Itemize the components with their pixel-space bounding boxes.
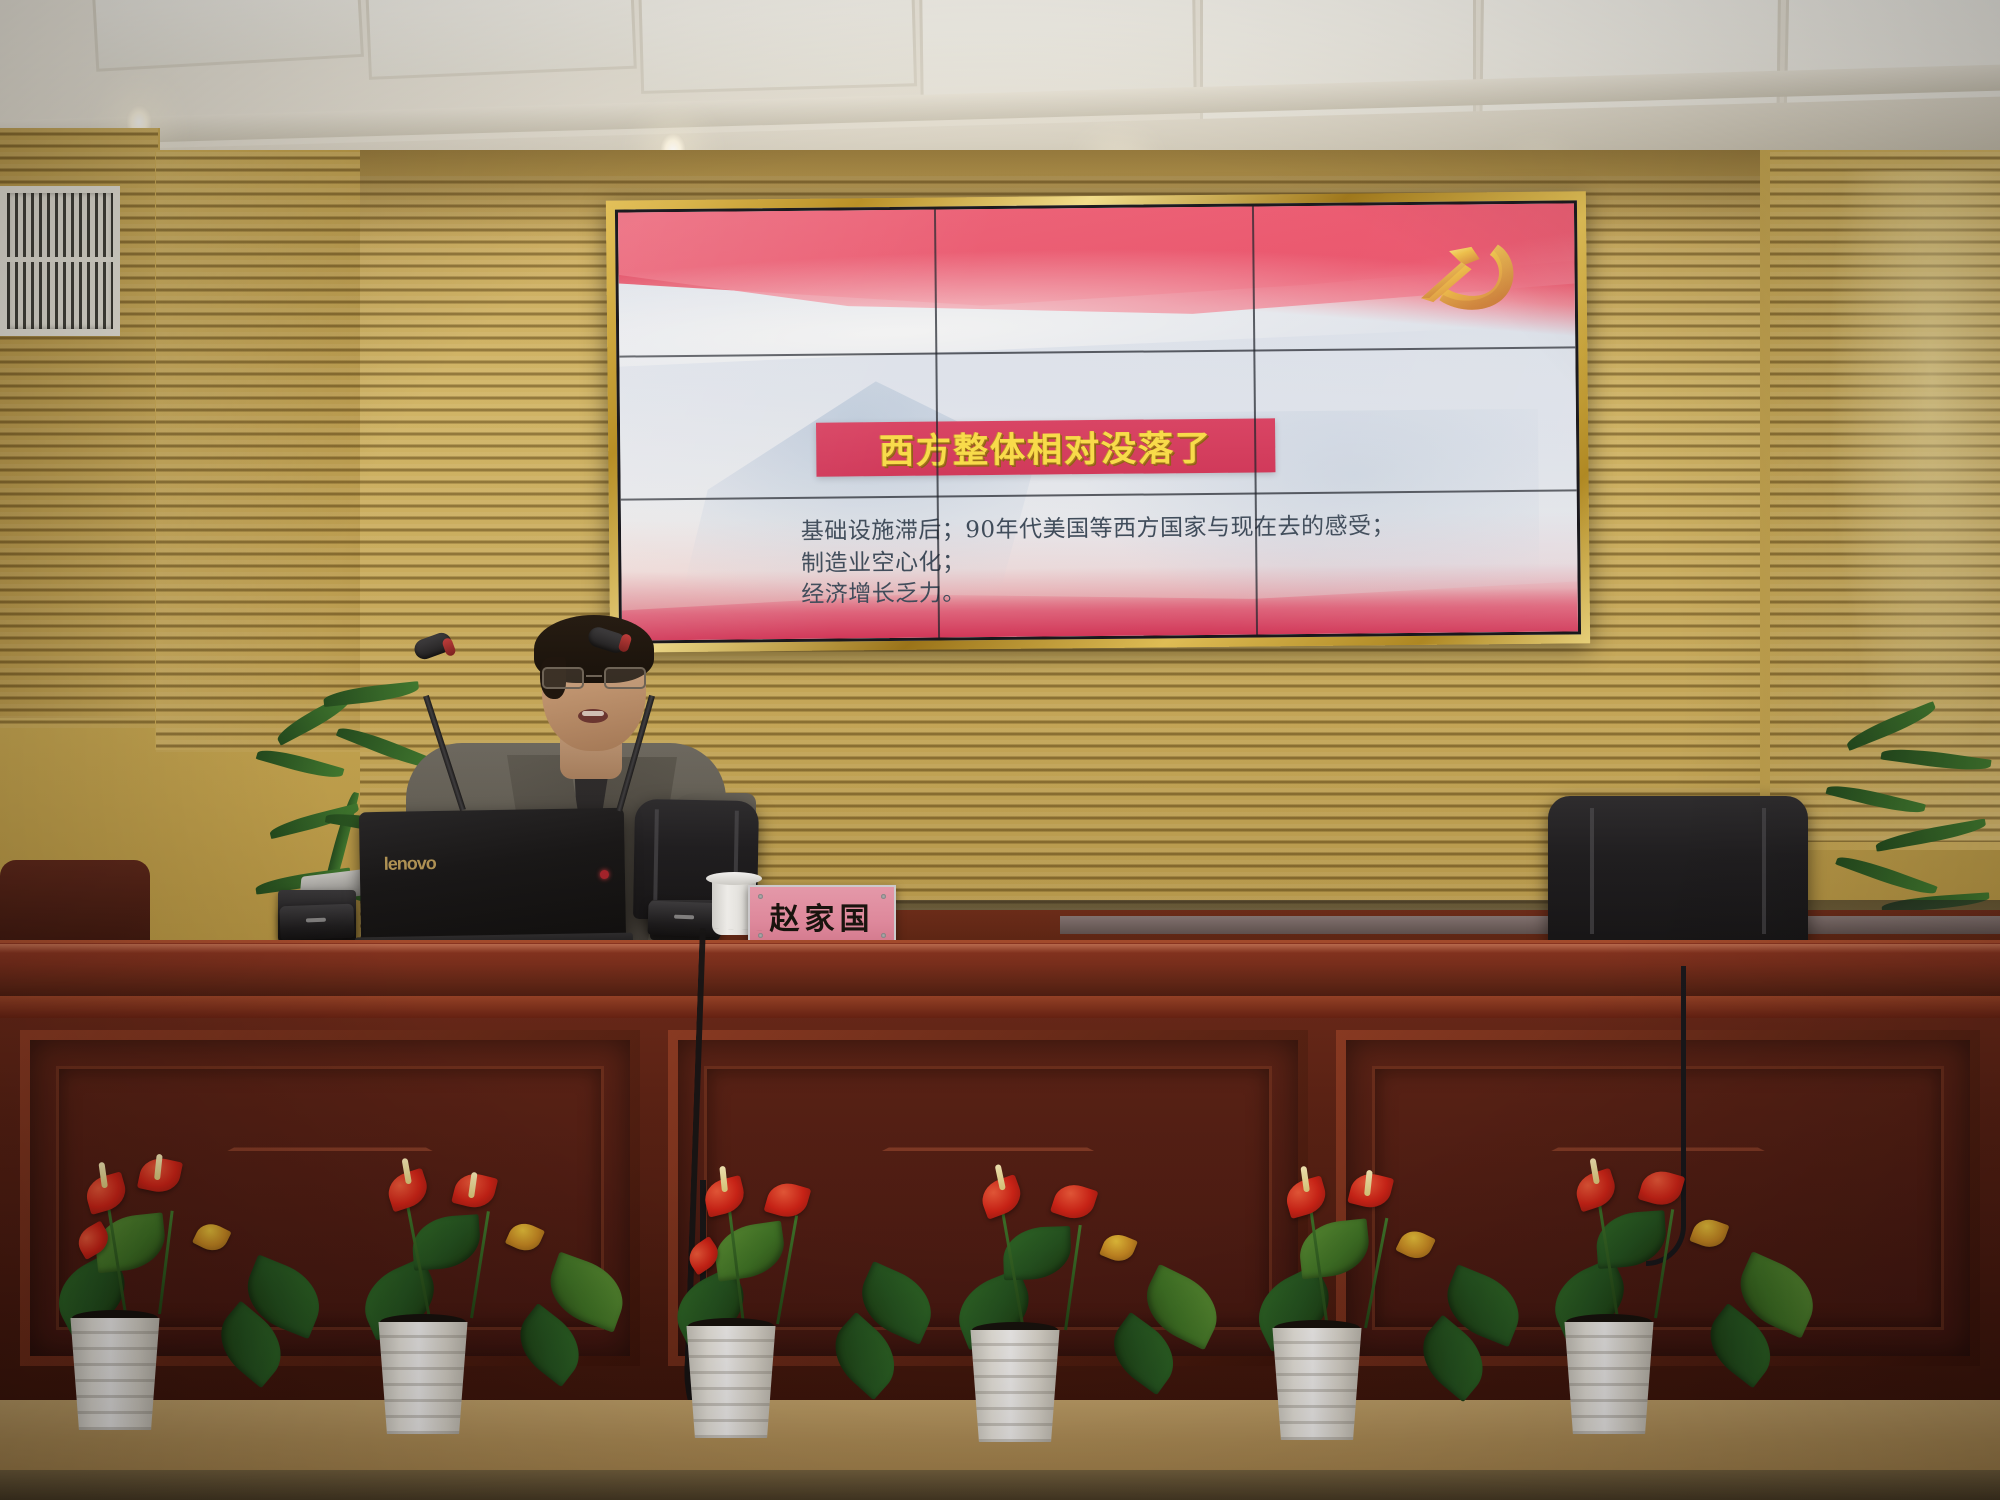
palm-frond — [323, 681, 420, 707]
slide-body-text: 基础设施滞后；90年代美国等西方国家与现在去的感受； 制造业空心化； 经济增长乏… — [801, 510, 1528, 612]
microphone-right[interactable] — [576, 636, 656, 811]
microphone-left[interactable] — [420, 640, 500, 810]
podium-rail-molding — [0, 996, 2000, 1018]
pot-ribs — [1264, 1328, 1370, 1440]
pot-ribs — [1556, 1322, 1662, 1434]
flower-pot — [62, 1318, 168, 1430]
podium-top-sheen — [0, 944, 2000, 953]
pot-ribs — [678, 1326, 784, 1438]
ceiling — [0, 0, 2000, 175]
flower-pot — [370, 1322, 476, 1434]
flower-pot-group — [1264, 1122, 1464, 1462]
plant-leaf — [711, 1221, 788, 1282]
flower-pot — [678, 1326, 784, 1438]
anthurium-bloom-fading — [1689, 1215, 1729, 1252]
nameplate-screw — [881, 894, 886, 899]
ceiling-light-panel — [362, 0, 637, 80]
anthurium-bloom — [1050, 1179, 1099, 1224]
anthurium-bloom-fading — [505, 1218, 545, 1256]
nameplate-screw — [758, 894, 763, 899]
anthurium-bloom-fading — [1099, 1230, 1138, 1266]
ceiling-light-panel — [636, 0, 917, 94]
plant-leaf — [1297, 1218, 1372, 1279]
laptop[interactable]: lenovo — [359, 808, 626, 948]
paper-cup-rim — [706, 872, 762, 885]
laptop-brand-logo: lenovo — [384, 853, 436, 875]
left-wall-return-slats — [156, 152, 360, 752]
palm-frond — [1881, 744, 1992, 774]
palm-frond — [1825, 780, 1925, 818]
slide-title-text: 西方整体相对没落了 — [879, 420, 1212, 474]
flower-pot-group — [62, 1112, 262, 1452]
plant-leaf — [411, 1214, 482, 1271]
microphone-stem — [423, 695, 466, 811]
anthurium-bloom — [1638, 1166, 1686, 1210]
microphone-ring — [441, 637, 457, 657]
pot-ribs — [962, 1330, 1068, 1442]
microphone-base-left — [279, 904, 354, 941]
palm-frond — [1874, 818, 1987, 851]
chair-left-partial[interactable] — [0, 860, 150, 952]
video-wall-gold-frame: 西方整体相对没落了 基础设施滞后；90年代美国等西方国家与现在去的感受； 制造业… — [606, 191, 1590, 652]
microphone-stem — [616, 695, 655, 812]
chair-executive-right[interactable] — [1548, 796, 1808, 946]
slide-title-band: 西方整体相对没落了 — [816, 418, 1275, 476]
hammer-and-sickle-emblem — [1404, 236, 1527, 321]
pot-ribs — [370, 1322, 476, 1434]
pot-ribs — [62, 1318, 168, 1430]
palm-frond — [1835, 851, 1938, 900]
nameplate-screw — [881, 933, 886, 938]
conference-room-scene: 西方整体相对没落了 基础设施滞后；90年代美国等西方国家与现在去的感受； 制造业… — [0, 0, 2000, 1500]
desk-runner-strip — [1060, 916, 2000, 934]
right-wall-light-glow — [1830, 170, 2000, 770]
flower-pot-group — [370, 1116, 570, 1456]
flower-pot — [962, 1330, 1068, 1442]
flower-pot-group — [962, 1124, 1162, 1464]
laptop-indicator-light — [600, 870, 609, 879]
presentation-slide: 西方整体相对没落了 基础设施滞后；90年代美国等西方国家与现在去的感受； 制造业… — [618, 203, 1578, 640]
anthurium-bloom — [764, 1178, 812, 1222]
flower-pot — [1556, 1322, 1662, 1434]
air-conditioning-vent — [0, 186, 120, 336]
video-wall-display[interactable]: 西方整体相对没落了 基础设施滞后；90年代美国等西方国家与现在去的感受； 制造业… — [615, 200, 1581, 643]
flower-pot — [1264, 1328, 1370, 1440]
ceiling-light-panel — [88, 0, 364, 72]
flower-pot-group — [678, 1120, 878, 1460]
anthurium-bloom-fading — [1395, 1226, 1436, 1264]
stage-floor-edge — [0, 1470, 2000, 1500]
palm-frond — [1844, 701, 1939, 751]
palm-frond — [256, 744, 345, 783]
flower-pot-group — [1556, 1116, 1756, 1456]
anthurium-bloom-fading — [192, 1218, 232, 1256]
